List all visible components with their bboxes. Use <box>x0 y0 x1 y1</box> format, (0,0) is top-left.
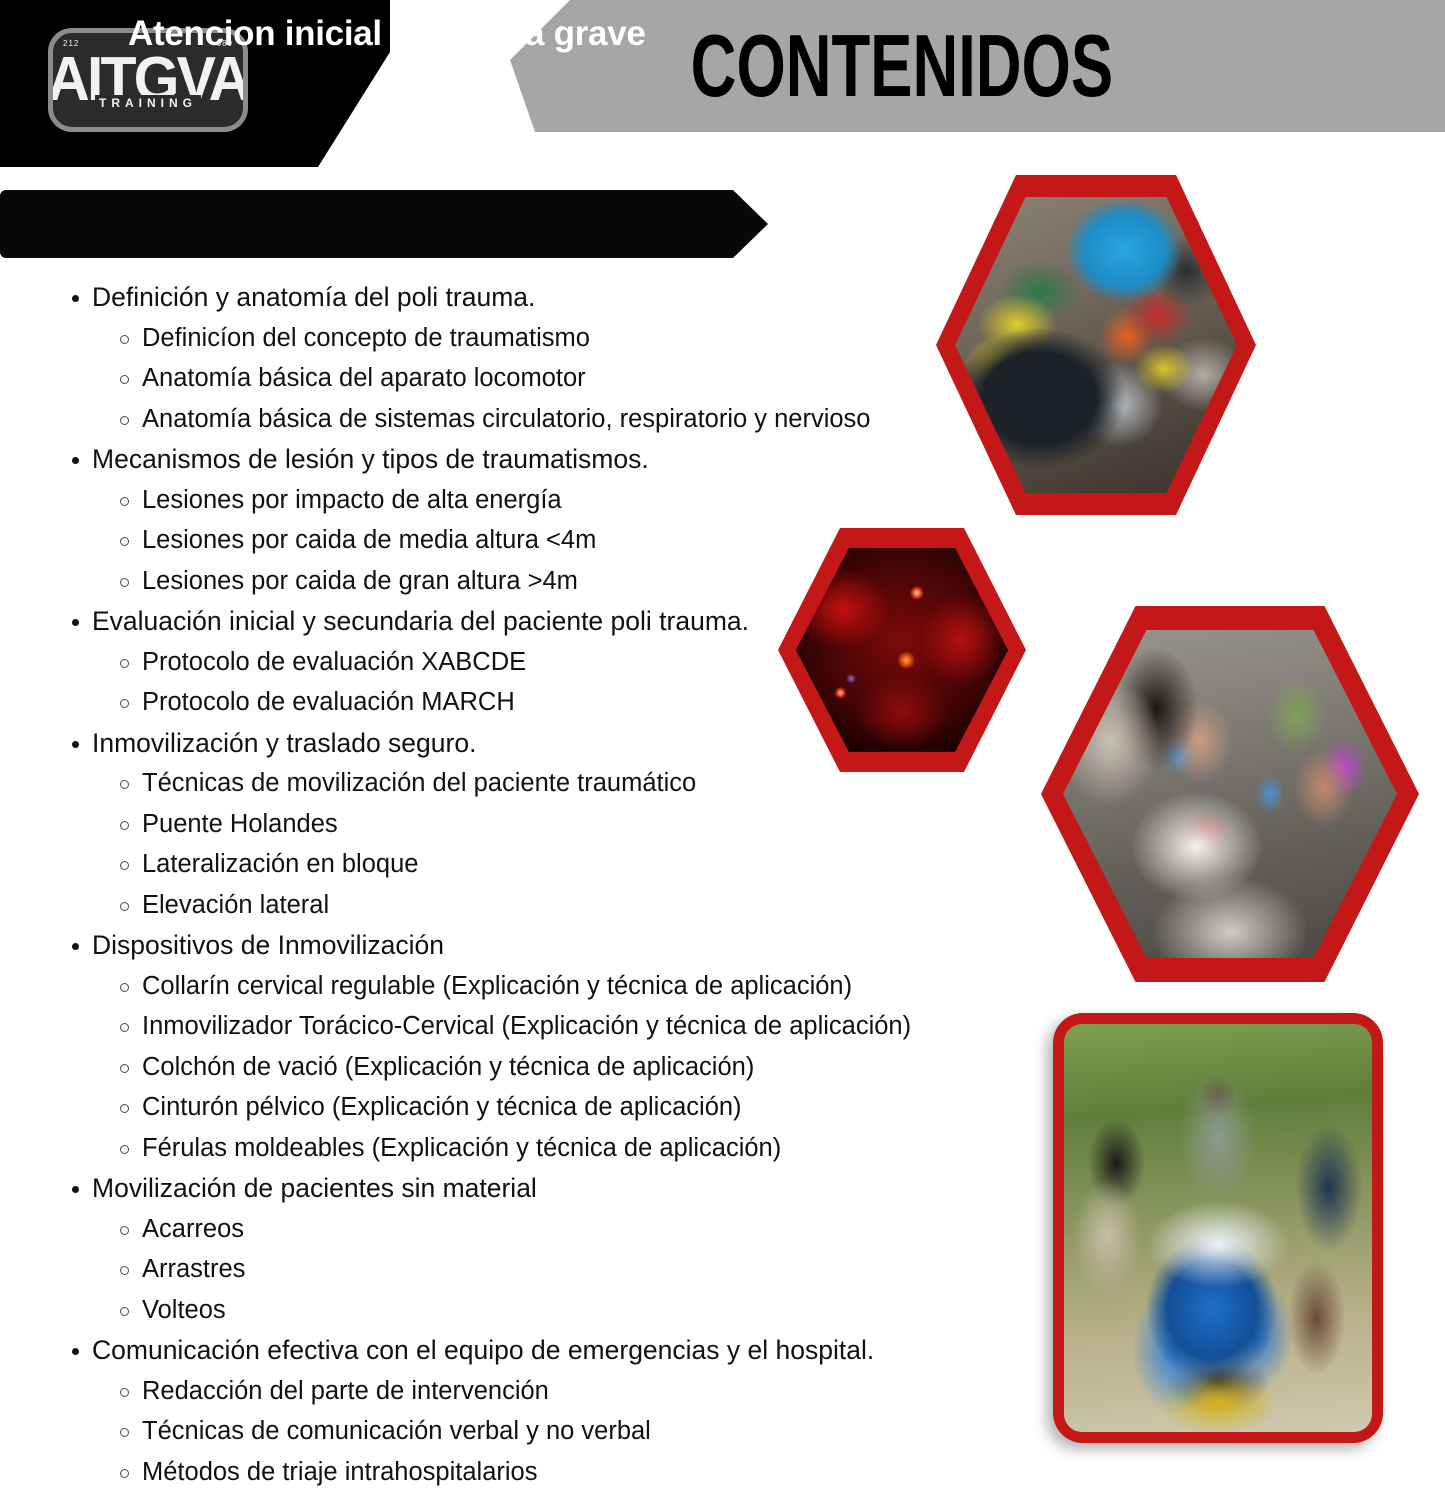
content-item-level2: Férulas moldeables (Explicación y técnic… <box>60 1129 960 1168</box>
content-item-level1: Comunicación efectiva con el equipo de e… <box>60 1331 960 1370</box>
content-item-level2: Lateralización en bloque <box>60 845 960 884</box>
content-item-level2: Puente Holandes <box>60 805 960 844</box>
content-item-level1: Mecanismos de lesión y tipos de traumati… <box>60 440 960 479</box>
photo-image <box>955 197 1237 493</box>
photo-stretcher-transport <box>1053 1013 1383 1443</box>
photo-frame <box>1063 630 1397 958</box>
content-item-level2: Lesiones por impacto de alta energía <box>60 481 960 520</box>
page-title: CONTENIDOS <box>641 0 1314 132</box>
logo-subtext: TRAINING <box>95 95 201 111</box>
content-item-level2: Anatomía básica del aparato locomotor <box>60 359 960 398</box>
content-item-level2: Collarín cervical regulable (Explicación… <box>60 967 960 1006</box>
photo-vehicle-extrication <box>1041 606 1419 982</box>
content-item-level2: Redacción del parte de intervención <box>60 1372 960 1411</box>
contents-list: Definición y anatomía del poli trauma.De… <box>60 278 960 1493</box>
photo-image <box>1063 630 1397 958</box>
content-item-level2: Definicíon del concepto de traumatismo <box>60 319 960 358</box>
content-item-level2: Cinturón pélvico (Explicación y técnica … <box>60 1088 960 1127</box>
content-item-level2: Lesiones por caida de media altura <4m <box>60 521 960 560</box>
content-item-level2: Inmovilizador Torácico-Cervical (Explica… <box>60 1007 960 1046</box>
content-item-level2: Anatomía básica de sistemas circulatorio… <box>60 400 960 439</box>
photo-frame <box>796 548 1008 752</box>
content-item-level2: Colchón de vació (Explicación y técnica … <box>60 1048 960 1087</box>
content-item-level2: Técnicas de movilización del paciente tr… <box>60 764 960 803</box>
photo-rescue-rocky-terrain <box>936 175 1256 515</box>
photo-image <box>796 548 1008 752</box>
content-item-level2: Acarreos <box>60 1210 960 1249</box>
photo-frame <box>955 197 1237 493</box>
subtitle-text: Atencion inicial al trauma grave <box>128 0 646 68</box>
photo-image <box>1064 1024 1372 1432</box>
content-item-level2: Elevación lateral <box>60 886 960 925</box>
content-item-level1: Dispositivos de Inmovilización <box>60 926 960 965</box>
subtitle-banner <box>0 190 768 258</box>
content-item-level2: Volteos <box>60 1291 960 1330</box>
content-item-level2: Arrastres <box>60 1250 960 1289</box>
content-item-level1: Movilización de pacientes sin material <box>60 1169 960 1208</box>
photo-frame <box>1064 1024 1372 1432</box>
content-item-level2: Métodos de triaje intrahospitalarios <box>60 1453 960 1492</box>
content-item-level1: Definición y anatomía del poli trauma. <box>60 278 960 317</box>
title-banner: CONTENIDOS <box>510 0 1445 132</box>
